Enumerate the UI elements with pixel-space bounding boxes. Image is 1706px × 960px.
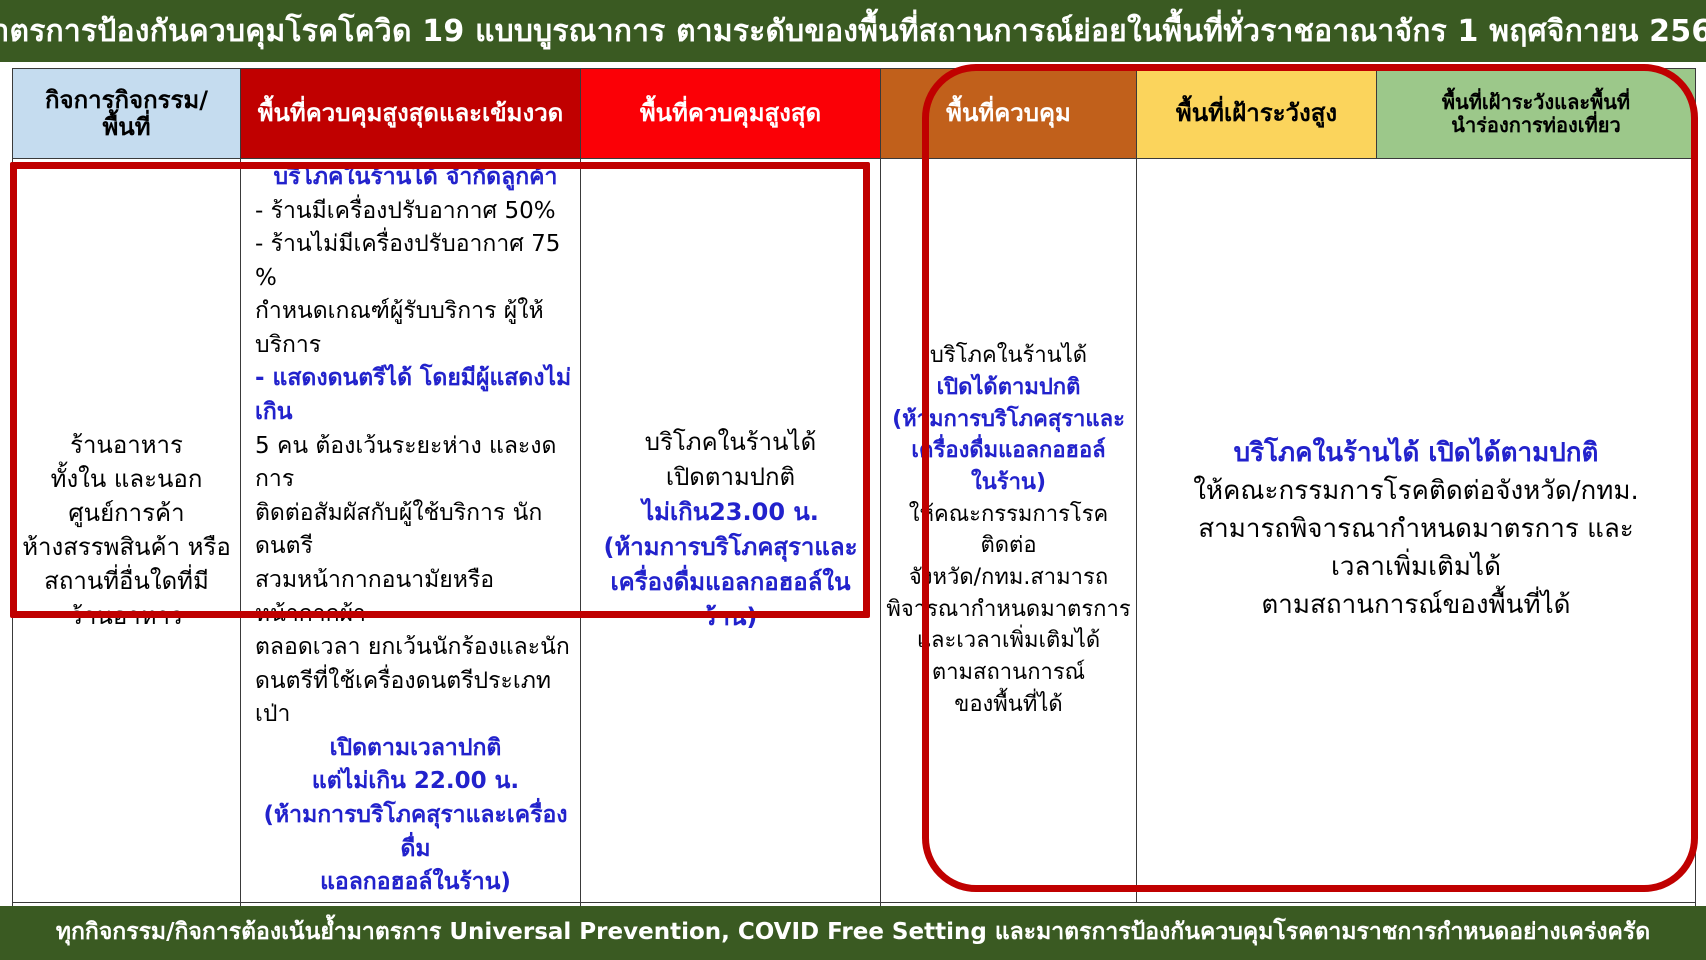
measure-line: - แสดงดนตรีได้ โดยมีผู้แสดงไม่เกิน [255,362,576,429]
max-strict-text-restaurants: บริโภคในร้านได้ จำกัดลูกค้า - ร้านมีเครื… [245,161,576,900]
measure-line: สวมหน้ากากอนามัยหรือหน้ากากผ้า [255,564,576,631]
measure-line: บริโภคในร้านได้ จำกัดลูกค้า [255,161,576,195]
cell-max-control-restaurants: บริโภคในร้านได้ เปิดตามปกติ ไม่เกิน23.00… [581,159,881,903]
table-row-restaurants: ร้านอาหาร ทั้งใน และนอก ศูนย์การค้า ห้าง… [13,159,1696,903]
activity-text-restaurants: ร้านอาหาร ทั้งใน และนอก ศูนย์การค้า ห้าง… [17,428,236,632]
measure-line: พิจารณากำหนดมาตรการ [885,594,1132,626]
measure-line: ไม่เกิน23.00 น. [585,495,876,530]
measure-line: เครื่องดื่มแอลกอฮอล์ [885,435,1132,467]
measure-line: เวลาเพิ่มเติมได้ [1141,549,1691,587]
column-header-control: พื้นที่ควบคุม [881,69,1137,159]
cell-activity-restaurants: ร้านอาหาร ทั้งใน และนอก ศูนย์การค้า ห้าง… [13,159,241,903]
measure-line: 5 คน ต้องเว้นระยะห่าง และงดการ [255,430,576,497]
measure-line: (ห้ามการบริโภคสุราและเครื่องดื่ม [255,799,576,866]
measure-line: ตามสถานการณ์ของพื้นที่ได้ [1141,587,1691,625]
activity-line: ศูนย์การค้า [17,496,236,530]
cell-control-restaurants: บริโภคในร้านได้ เปิดได้ตามปกติ (ห้ามการบ… [881,159,1137,903]
table-header: กิจการกิจกรรม/ พื้นที่ พื้นที่ควบคุมสูงส… [13,69,1696,159]
measure-line: (ห้ามการบริโภคสุราและ [585,530,876,565]
column-header-max-strict: พื้นที่ควบคุมสูงสุดและเข้มงวด [241,69,581,159]
column-header-max-control: พื้นที่ควบคุมสูงสุด [581,69,881,159]
measure-line: ตามสถานการณ์ [885,657,1132,689]
measure-line: ติดต่อสัมผัสกับผู้ใช้บริการ นักดนตรี [255,497,576,564]
control-text-restaurants: บริโภคในร้านได้ เปิดได้ตามปกติ (ห้ามการบ… [885,340,1132,720]
measure-line: (ห้ามการบริโภคสุราและ [885,404,1132,436]
title-bar: มาตรการป้องกันควบคุมโรคโควิด 19 แบบบูรณา… [0,0,1706,62]
measure-line: ในร้าน) [885,467,1132,499]
measure-line: จังหวัด/กทม.สามารถ [885,562,1132,594]
column-header-activity-line1: กิจการกิจกรรม/ [17,87,236,114]
cell-watch-merged-restaurants: บริโภคในร้านได้ เปิดได้ตามปกติ ให้คณะกรร… [1137,159,1696,903]
covid-measures-infographic: มาตรการป้องกันควบคุมโรคโควิด 19 แบบบูรณา… [0,0,1706,960]
activity-line: ร้านอาหาร [17,599,236,633]
activity-line: ทั้งใน และนอก [17,462,236,496]
measures-table-wrapper: กิจการกิจกรรม/ พื้นที่ พื้นที่ควบคุมสูงส… [12,68,1695,902]
measure-line: เปิดตามปกติ [585,460,876,495]
table-body: ร้านอาหาร ทั้งใน และนอก ศูนย์การค้า ห้าง… [13,159,1696,960]
measure-line: เครื่องดื่มแอลกอฮอล์ในร้าน) [585,565,876,635]
measure-line: แอลกอฮอล์ในร้าน) [255,866,576,900]
column-header-high-watch: พื้นที่เฝ้าระวังสูง [1137,69,1377,159]
column-header-watch-pilot: พื้นที่เฝ้าระวังและพื้นที่ นำร่องการท่อง… [1377,69,1696,159]
measure-line: เปิดตามเวลาปกติ [255,732,576,766]
footer-bar: ทุกกิจกรรม/กิจการต้องเน้นย้ำมาตรการ Univ… [0,906,1706,960]
activity-line: สถานที่อื่นใดที่มี [17,564,236,598]
page-title: มาตรการป้องกันควบคุมโรคโควิด 19 แบบบูรณา… [0,15,1706,48]
measures-table: กิจการกิจกรรม/ พื้นที่ พื้นที่ควบคุมสูงส… [12,68,1696,960]
activity-line: ห้างสรรพสินค้า หรือ [17,530,236,564]
measure-line: สามารถพิจารณากำหนดมาตรการ และ [1141,511,1691,549]
measure-line: บริโภคในร้านได้ [885,340,1132,372]
measure-line: - ร้านไม่มีเครื่องปรับอากาศ 75 % [255,228,576,295]
measure-line: บริโภคในร้านได้ [585,425,876,460]
measure-line: - ร้านมีเครื่องปรับอากาศ 50% [255,195,576,229]
measure-line: ให้คณะกรรมการโรคติดต่อจังหวัด/กทม. [1141,473,1691,511]
watch-merged-text-restaurants: บริโภคในร้านได้ เปิดได้ตามปกติ ให้คณะกรร… [1141,435,1691,625]
column-header-activity-line2: พื้นที่ [17,114,236,141]
measure-line: กำหนดเกณฑ์ผู้รับบริการ ผู้ให้บริการ [255,295,576,362]
activity-line: ร้านอาหาร [17,428,236,462]
max-control-text-restaurants: บริโภคในร้านได้ เปิดตามปกติ ไม่เกิน23.00… [585,425,876,635]
measure-line: เปิดได้ตามปกติ [885,372,1132,404]
measure-line: บริโภคในร้านได้ เปิดได้ตามปกติ [1141,435,1691,473]
column-header-watch-pilot-line1: พื้นที่เฝ้าระวังและพื้นที่ [1381,91,1691,113]
footer-note: ทุกกิจกรรม/กิจการต้องเน้นย้ำมาตรการ Univ… [56,920,1650,945]
column-header-activity: กิจการกิจกรรม/ พื้นที่ [13,69,241,159]
column-header-watch-pilot-line2: นำร่องการท่องเที่ยว [1381,114,1691,136]
cell-max-strict-restaurants: บริโภคในร้านได้ จำกัดลูกค้า - ร้านมีเครื… [241,159,581,903]
measure-line: ตลอดเวลา ยกเว้นนักร้องและนัก [255,631,576,665]
measure-line: ดนตรีที่ใช้เครื่องดนตรีประเภทเป่า [255,665,576,732]
measure-line: ของพื้นที่ได้ [885,689,1132,721]
measure-line: และเวลาเพิ่มเติมได้ [885,625,1132,657]
measure-line: ให้คณะกรรมการโรคติดต่อ [885,499,1132,562]
measure-line: แต่ไม่เกิน 22.00 น. [255,765,576,799]
header-row: กิจการกิจกรรม/ พื้นที่ พื้นที่ควบคุมสูงส… [13,69,1696,159]
